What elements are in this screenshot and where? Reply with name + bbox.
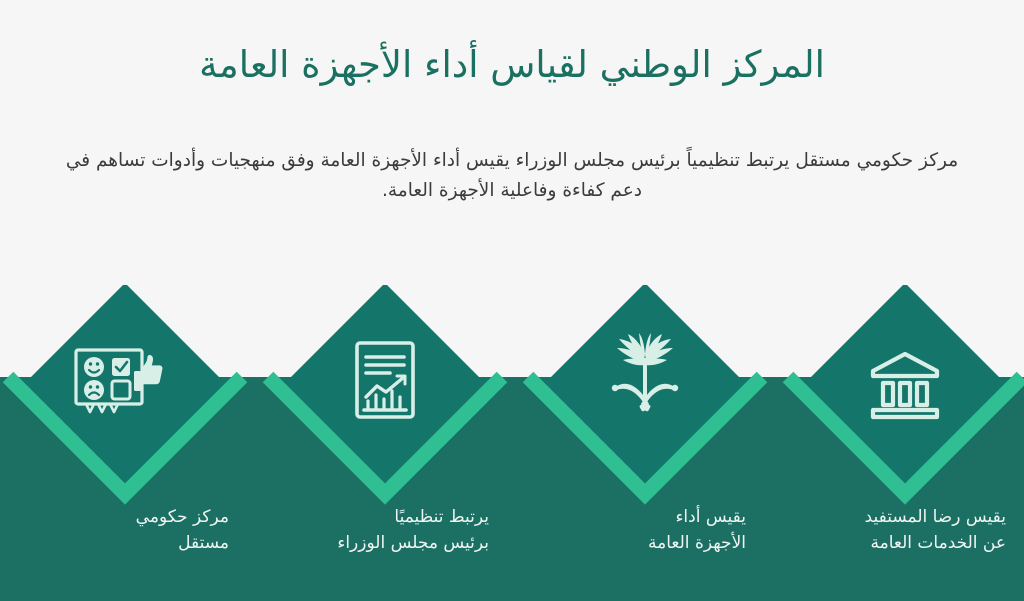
pillar-label-independent-government-center: مركز حكومي مستقل	[4, 505, 229, 557]
page-title: المركز الوطني لقياس أداء الأجهزة العامة	[0, 40, 1024, 90]
report-chart-icon	[345, 340, 425, 420]
saudi-emblem-icon	[605, 336, 685, 416]
pillar-line2: عن الخدمات العامة	[781, 531, 1006, 557]
infographic-canvas: المركز الوطني لقياس أداء الأجهزة العامة …	[0, 0, 1024, 601]
pillar-line1: يقيس أداء	[521, 505, 746, 531]
diamond-upper-halves	[18, 283, 1012, 390]
pillar-line2: الأجهزة العامة	[521, 531, 746, 557]
pillar-line2: مستقل	[4, 531, 229, 557]
header-section: المركز الوطني لقياس أداء الأجهزة العامة …	[0, 0, 1024, 285]
pillar-label-reports-to-prime-minister: يرتبط تنظيميًا برئيس مجلس الوزراء	[264, 505, 489, 557]
page-subtitle: مركز حكومي مستقل يرتبط تنظيمياً برئيس مج…	[62, 146, 962, 206]
satisfaction-survey-icon	[78, 342, 158, 422]
pillar-label-measures-beneficiary-satisfaction: يقيس رضا المستفيد عن الخدمات العامة	[781, 505, 1006, 557]
pillar-line1: يرتبط تنظيميًا	[264, 505, 489, 531]
pillar-line1: مركز حكومي	[4, 505, 229, 531]
pillar-line1: يقيس رضا المستفيد	[781, 505, 1006, 531]
pillar-label-measures-public-agency-performance: يقيس أداء الأجهزة العامة	[521, 505, 746, 557]
pillar-labels: مركز حكومي مستقل يرتبط تنظيميًا برئيس مج…	[0, 505, 1024, 601]
government-building-icon	[865, 344, 945, 424]
pillar-line2: برئيس مجلس الوزراء	[264, 531, 489, 557]
